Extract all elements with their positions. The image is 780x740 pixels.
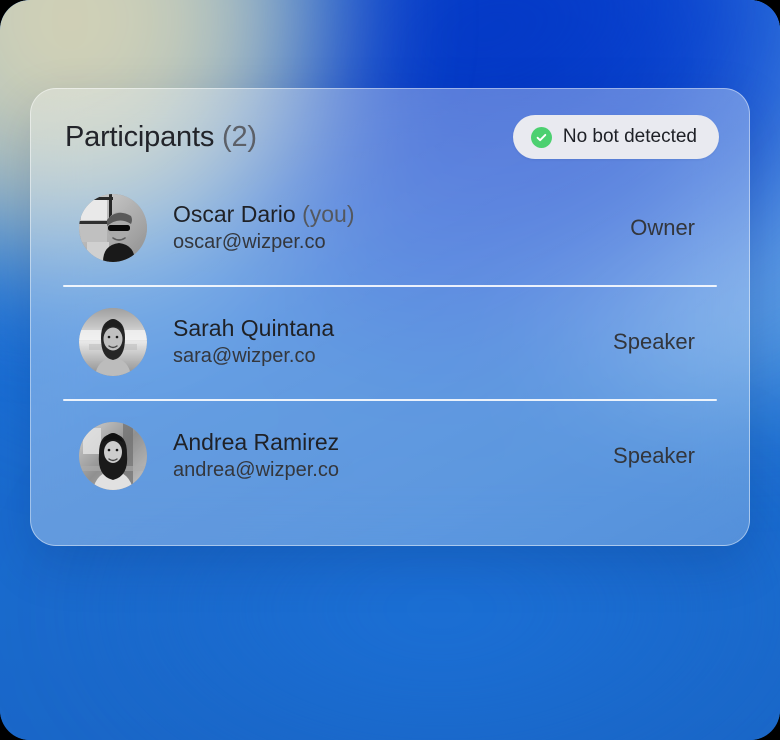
participant-row[interactable]: Andrea Ramirez andrea@wizper.co Speaker	[31, 399, 749, 513]
app-window: Participants (2) No bot detected	[0, 0, 780, 740]
participant-email: oscar@wizper.co	[173, 229, 630, 255]
participant-role: Speaker	[613, 329, 717, 355]
page-title: Participants (2)	[65, 121, 257, 154]
status-badge-label: No bot detected	[563, 126, 697, 148]
avatar	[79, 308, 147, 376]
participant-info: Andrea Ramirez andrea@wizper.co	[173, 429, 613, 483]
avatar	[79, 194, 147, 262]
participant-role: Speaker	[613, 443, 717, 469]
participant-email: sara@wizper.co	[173, 343, 613, 369]
participant-email: andrea@wizper.co	[173, 457, 613, 483]
avatar	[79, 422, 147, 490]
participant-row[interactable]: Oscar Dario (you) oscar@wizper.co Owner	[31, 171, 749, 285]
participant-name: Andrea Ramirez	[173, 429, 613, 456]
participant-name-text: Oscar Dario	[173, 201, 296, 227]
participants-card: Participants (2) No bot detected	[30, 88, 750, 546]
participant-name-text: Sarah Quintana	[173, 315, 334, 341]
card-header: Participants (2) No bot detected	[65, 111, 719, 163]
participant-row[interactable]: Sarah Quintana sara@wizper.co Speaker	[31, 285, 749, 399]
status-badge-no-bot[interactable]: No bot detected	[513, 115, 719, 159]
participant-info: Sarah Quintana sara@wizper.co	[173, 315, 613, 369]
participant-you-suffix: (you)	[302, 201, 354, 227]
participant-name: Sarah Quintana	[173, 315, 613, 342]
participant-name-text: Andrea Ramirez	[173, 429, 339, 455]
participant-info: Oscar Dario (you) oscar@wizper.co	[173, 201, 630, 255]
page-title-label: Participants	[65, 121, 214, 153]
participant-list: Oscar Dario (you) oscar@wizper.co Owner	[31, 171, 749, 545]
participant-name: Oscar Dario (you)	[173, 201, 630, 228]
participant-count: (2)	[222, 121, 257, 153]
participant-role: Owner	[630, 215, 717, 241]
check-circle-icon	[531, 127, 552, 148]
